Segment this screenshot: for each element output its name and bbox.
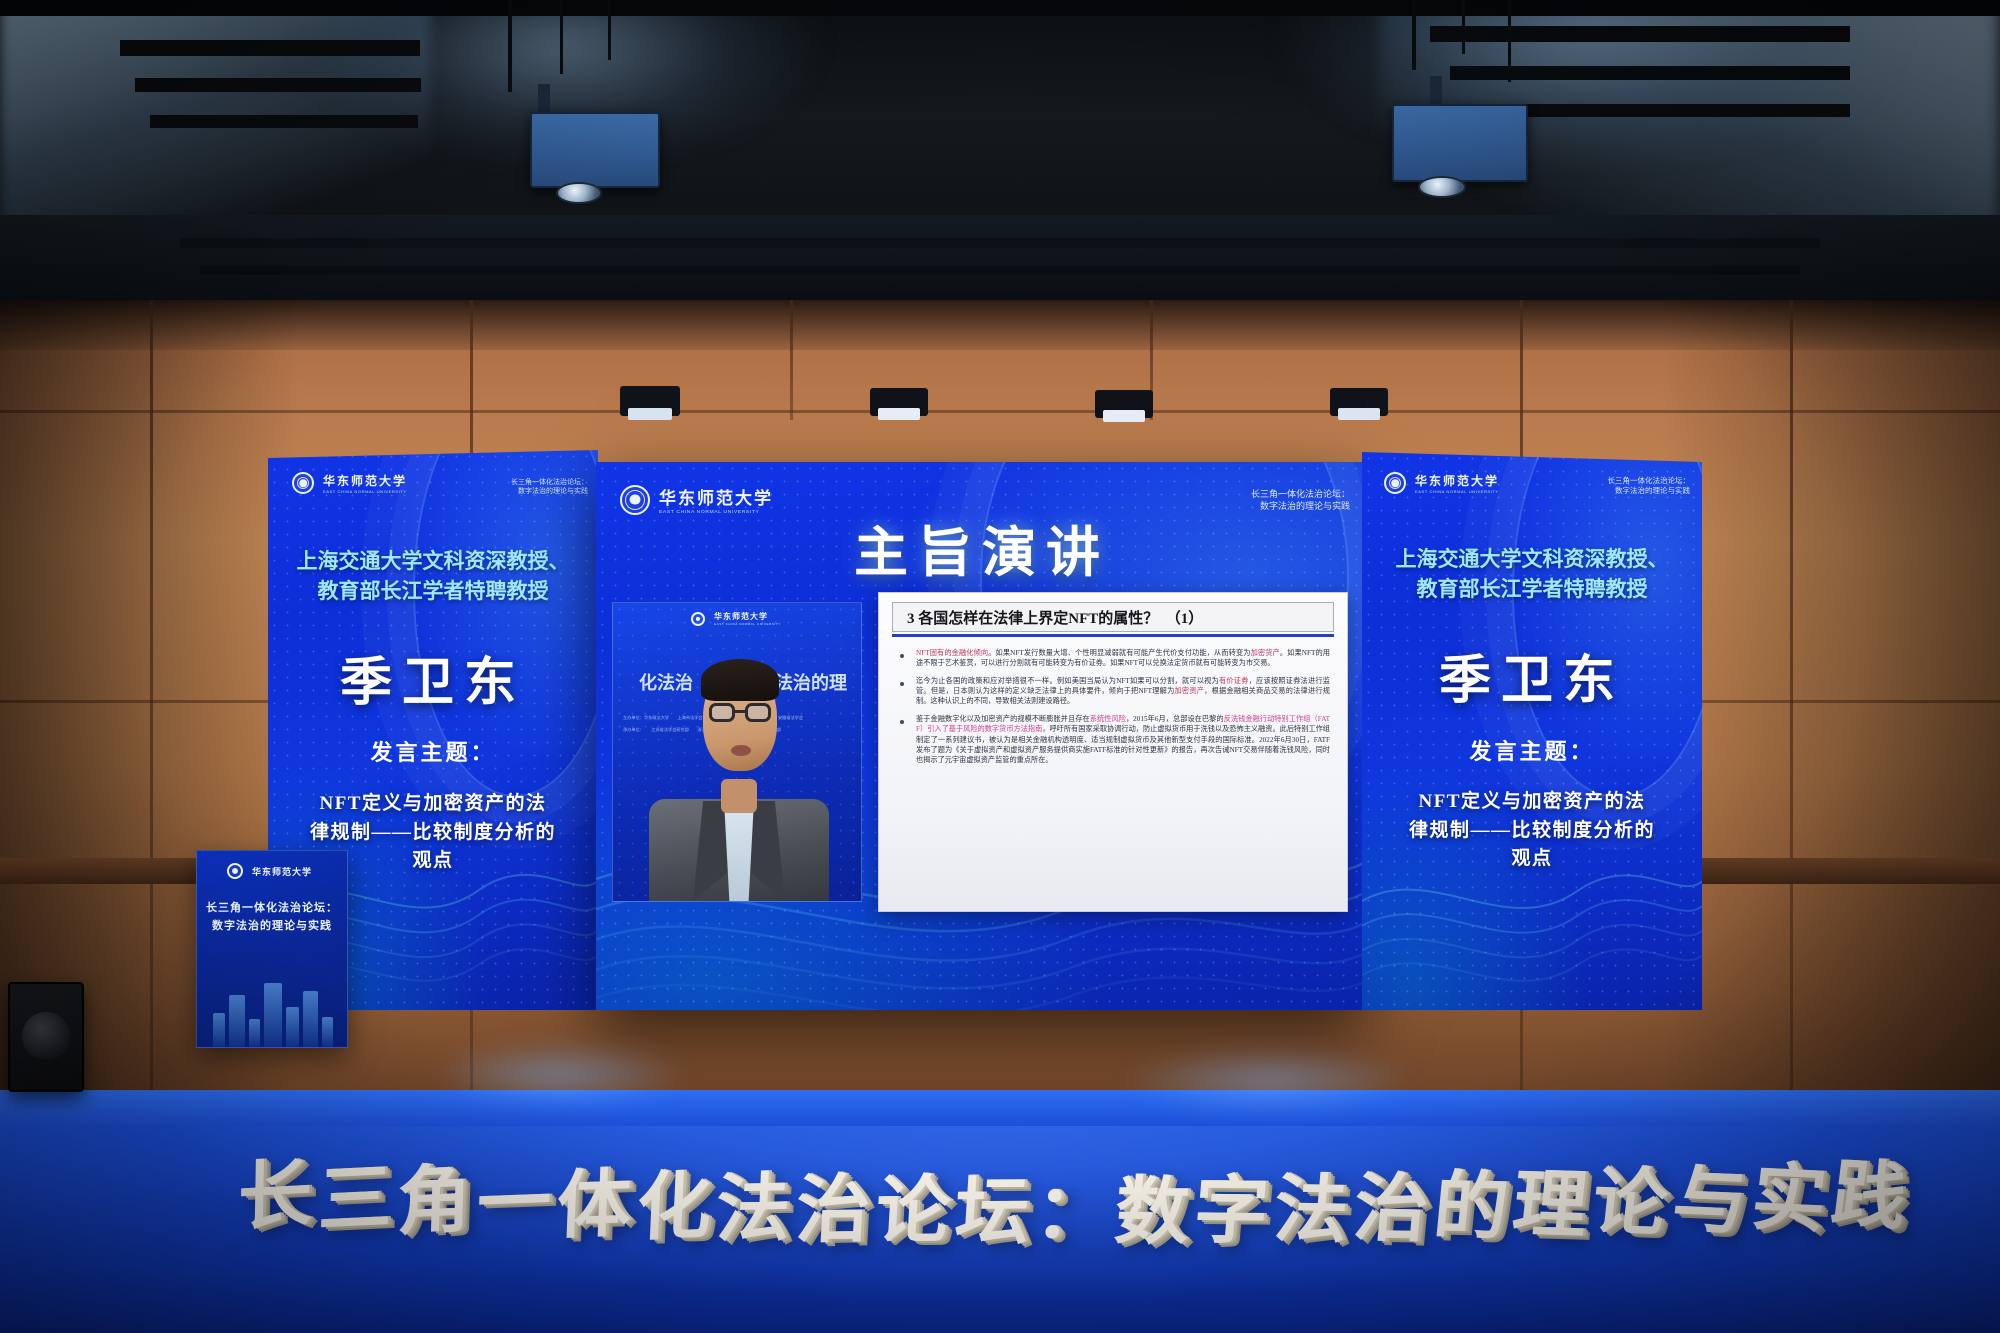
- slide-bullet: NFT固有的金融化倾向。如果NFT发行数量大增、个性明显减弱就有可能产生代价支付…: [900, 648, 1330, 669]
- projector-left: [530, 112, 660, 188]
- ecnu-seal-icon: [292, 472, 314, 494]
- projector-lens-right: [1418, 176, 1466, 198]
- led-banner-right: 华东师范大学 EAST CHINA NORMAL UNIVERSITY 长三角一…: [1362, 452, 1702, 1010]
- slide-text-segment: 系统性风险: [1090, 715, 1126, 723]
- marquee-character: ：: [1032, 1176, 1111, 1250]
- corner-tag-line-1: 长三角一体化法治论坛：: [1608, 476, 1691, 486]
- corner-tag-line-2: 数字法治的理论与实践: [1608, 486, 1691, 496]
- slide-title: 3 各国怎样在法律上界定NFT的属性？ （1）: [907, 607, 1203, 628]
- ecnu-name-en: EAST CHINA NORMAL UNIVERSITY: [1415, 489, 1499, 494]
- marquee-character: 化: [635, 1170, 712, 1246]
- slide-text-segment: 迄今为止各国的政策和应对举措很不一样。例如美国当局认为NFT如果可以分割，就可以…: [916, 677, 1219, 685]
- topic-line-2: 律规制——比较制度分析的: [286, 819, 580, 848]
- topic-line-2: 律规制——比较制度分析的: [1380, 817, 1684, 846]
- pa-speaker-cone-left: [22, 1012, 70, 1060]
- ecnu-logo-left: 华东师范大学 EAST CHINA NORMAL UNIVERSITY: [292, 472, 407, 494]
- ecnu-name-cn: 华东师范大学: [659, 484, 773, 509]
- corner-tag-line-1: 长三角一体化法治论坛：: [1251, 488, 1350, 500]
- slide-bullet: 鉴于金融数字化以及加密资产的规模不断膨胀并且存在系统性风险，2015年6月，总部…: [900, 714, 1330, 766]
- marquee-character: 与: [1668, 1164, 1750, 1241]
- subject-label-left: 发言主题：: [278, 735, 588, 767]
- slide-text-segment: NFT固有的金融化倾向: [916, 649, 988, 657]
- role-line-2: 教育部长江学者特聘教授: [278, 576, 588, 606]
- topic-line-3: 观点: [1380, 845, 1684, 874]
- marquee-character: 坛: [953, 1176, 1032, 1250]
- marquee-character: 法: [714, 1172, 792, 1248]
- marquee-character: 数: [1112, 1176, 1192, 1250]
- marquee-character: 的: [1430, 1170, 1511, 1246]
- speaker-role-left: 上海交通大学文科资深教授、 教育部长江学者特聘教授: [278, 546, 588, 607]
- forum-corner-tag-left: 长三角一体化法治论坛： 数字法治的理论与实践: [511, 478, 588, 497]
- keynote-title: 主旨演讲: [854, 508, 1110, 587]
- ecnu-logo-right: 华东师范大学 EAST CHINA NORMAL UNIVERSITY: [1384, 472, 1499, 494]
- marquee-character: 实: [1748, 1161, 1831, 1238]
- marquee-character: 三: [317, 1161, 393, 1239]
- corner-tag-line-2: 数字法治的理论与实践: [1251, 500, 1350, 512]
- speaker-name-left: 季卫东: [278, 640, 588, 715]
- role-line-2: 教育部长江学者特聘教授: [1372, 574, 1692, 604]
- projector-right: [1392, 104, 1528, 182]
- slide-text-segment: 有价证券: [1219, 677, 1249, 685]
- conference-stage-photo: 华东师范大学 EAST CHINA NORMAL UNIVERSITY 上海交通…: [0, 0, 2000, 1333]
- wall-shadow-right: [1660, 300, 2000, 1100]
- speaker-role-right: 上海交通大学文科资深教授、 教育部长江学者特聘教授: [1372, 544, 1692, 605]
- topic-line-1: NFT定义与加密资产的法: [1380, 788, 1684, 817]
- ecnu-name-cn: 华东师范大学: [252, 865, 312, 878]
- slide-bullet: 迄今为止各国的政策和应对举措很不一样。例如美国当局认为NFT如果可以分割，就可以…: [900, 676, 1330, 707]
- forum-corner-tag-center: 长三角一体化法治论坛： 数字法治的理论与实践: [1251, 488, 1350, 512]
- standee-line-1: 长三角一体化法治论坛：: [197, 899, 347, 915]
- forum-corner-tag-right: 长三角一体化法治论坛： 数字法治的理论与实践: [1608, 476, 1691, 496]
- speaker-name-right: 季卫东: [1372, 638, 1692, 713]
- marquee-character: 一: [476, 1166, 552, 1243]
- standee-sign: 华东师范大学 长三角一体化法治论坛： 数字法治的理论与实践: [196, 850, 348, 1048]
- ecnu-logo-center: 华东师范大学 EAST CHINA NORMAL UNIVERSITY: [620, 484, 773, 515]
- led-screen-center: 华东师范大学 EAST CHINA NORMAL UNIVERSITY 长三角一…: [596, 462, 1364, 1010]
- projector-lens-left: [556, 182, 602, 204]
- ecnu-seal-icon: [227, 863, 243, 879]
- presentation-slide: 3 各国怎样在法律上界定NFT的属性？ （1） NFT固有的金融化倾向。如果NF…: [878, 592, 1348, 912]
- stage-title-marquee: 长三角一体化法治论坛：数字法治的理论与实践: [0, 1138, 2000, 1318]
- role-line-1: 上海交通大学文科资深教授、: [1372, 544, 1692, 574]
- marquee-character: 角: [396, 1163, 472, 1240]
- ceiling: [0, 0, 2000, 330]
- marquee-character: 论: [1589, 1166, 1671, 1242]
- role-line-1: 上海交通大学文科资深教授、: [278, 546, 588, 576]
- ecnu-name-cn: 华东师范大学: [1415, 472, 1499, 489]
- slide-title-underline: [892, 634, 1334, 637]
- stage-edge: [0, 1090, 2000, 1126]
- slide-text-segment: 。如果NFT发行数量大增、个性明显减弱就有可能产生代价支付功能，从而转变为: [988, 649, 1250, 657]
- ecnu-name-en: EAST CHINA NORMAL UNIVERSITY: [659, 509, 773, 514]
- standee-line-2: 数字法治的理论与实践: [197, 917, 347, 933]
- slide-text-segment: ，2015年6月，总部设在巴黎的: [1126, 715, 1224, 723]
- speaker-topic-right: NFT定义与加密资产的法 律规制——比较制度分析的 观点: [1380, 788, 1684, 874]
- marquee-character: 字: [1191, 1175, 1271, 1250]
- topic-line-1: NFT定义与加密资产的法: [286, 790, 580, 819]
- slide-text-segment: 加密货产: [1251, 649, 1280, 657]
- marquee-character: 长: [237, 1158, 312, 1236]
- marquee-character: 论: [873, 1175, 951, 1250]
- corner-tag-line-2: 数字法治的理论与实践: [511, 487, 588, 496]
- ecnu-seal-icon: [1384, 472, 1406, 494]
- slide-text-segment: 加密资产: [1174, 687, 1204, 695]
- marquee-character: 法: [1271, 1174, 1351, 1249]
- marquee-character: 践: [1828, 1158, 1911, 1236]
- remote-speaker-video: 华东师范大学 EAST CHINA NORMAL UNIVERSITY 化法治 …: [612, 602, 862, 902]
- ecnu-name-cn: 华东师范大学: [323, 472, 407, 489]
- slide-text-segment: 鉴于金融数字化以及加密资产的规模不断膨胀并且存在: [916, 715, 1090, 723]
- marquee-character: 理: [1509, 1168, 1590, 1244]
- ecnu-name-en: EAST CHINA NORMAL UNIVERSITY: [323, 489, 407, 494]
- slide-bullet-list: NFT固有的金融化倾向。如果NFT发行数量大增、个性明显减弱就有可能产生代价支付…: [900, 648, 1330, 773]
- marquee-character: 体: [555, 1168, 632, 1244]
- subject-label-right: 发言主题：: [1372, 734, 1692, 766]
- speaker-figure: [613, 603, 862, 902]
- marquee-character: 治: [794, 1174, 872, 1249]
- ecnu-logo-standee: 华东师范大学: [227, 863, 312, 879]
- ecnu-seal-icon: [620, 485, 650, 515]
- marquee-character: 治: [1350, 1172, 1431, 1247]
- slide-title-box: 3 各国怎样在法律上界定NFT的属性？ （1）: [892, 602, 1334, 632]
